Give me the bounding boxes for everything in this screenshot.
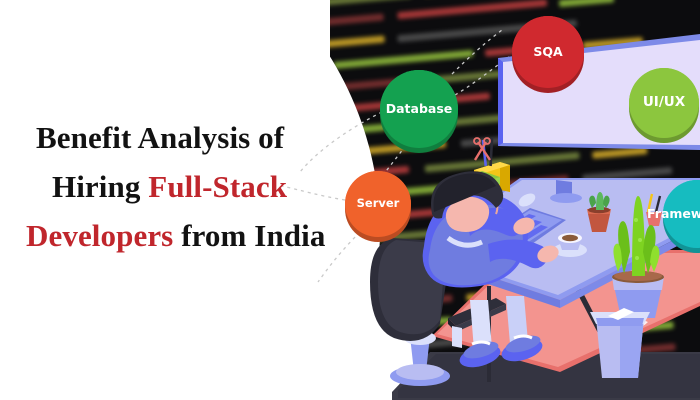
badge-uiux[interactable]: UI/UX: [629, 68, 699, 138]
badge-server-label: Server: [357, 198, 400, 210]
title-line-2-accent: Full-Stack: [148, 169, 287, 204]
banner: Database SQA UI/UX Server Frameworks Ben…: [0, 0, 700, 400]
title-line-2-prefix: Hiring: [52, 169, 148, 204]
title-line-3: Developers from India: [26, 211, 356, 260]
badge-database[interactable]: Database: [380, 70, 458, 148]
badge-frameworks-label: Frameworks: [647, 208, 700, 221]
badge-database-label: Database: [386, 103, 453, 116]
badge-sqa[interactable]: SQA: [512, 16, 584, 88]
page-title: Benefit Analysis of Hiring Full-Stack De…: [26, 113, 356, 260]
title-line-3-suffix: from India: [173, 218, 325, 253]
title-line-1: Benefit Analysis of: [26, 113, 356, 162]
badge-uiux-label: UI/UX: [643, 96, 685, 110]
title-line-2: Hiring Full-Stack: [26, 162, 356, 211]
badge-sqa-label: SQA: [533, 46, 562, 59]
title-line-3-accent: Developers: [26, 218, 173, 253]
